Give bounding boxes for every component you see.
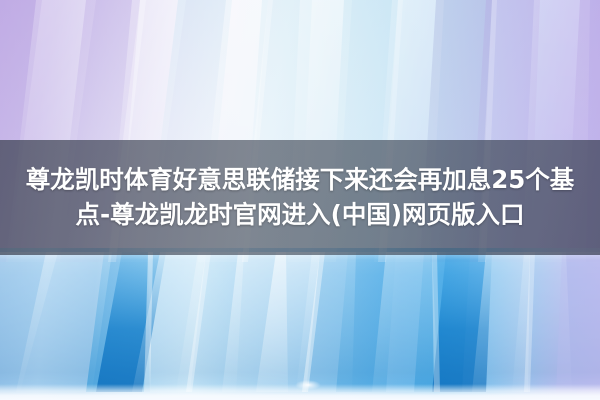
banner-image: 尊龙凯时体育好意思联储接下来还会再加息25个基 点-尊龙凯龙时官网进入(中国)网… <box>0 0 600 400</box>
headline-line-2: 点-尊龙凯龙时官网进入(中国)网页版入口 <box>75 198 524 233</box>
bottom-sparkle-highlight <box>295 380 321 390</box>
headline-line-1: 尊龙凯时体育好意思联储接下来还会再加息25个基 <box>26 163 575 198</box>
headline-overlay-band: 尊龙凯时体育好意思联储接下来还会再加息25个基 点-尊龙凯龙时官网进入(中国)网… <box>0 140 600 255</box>
